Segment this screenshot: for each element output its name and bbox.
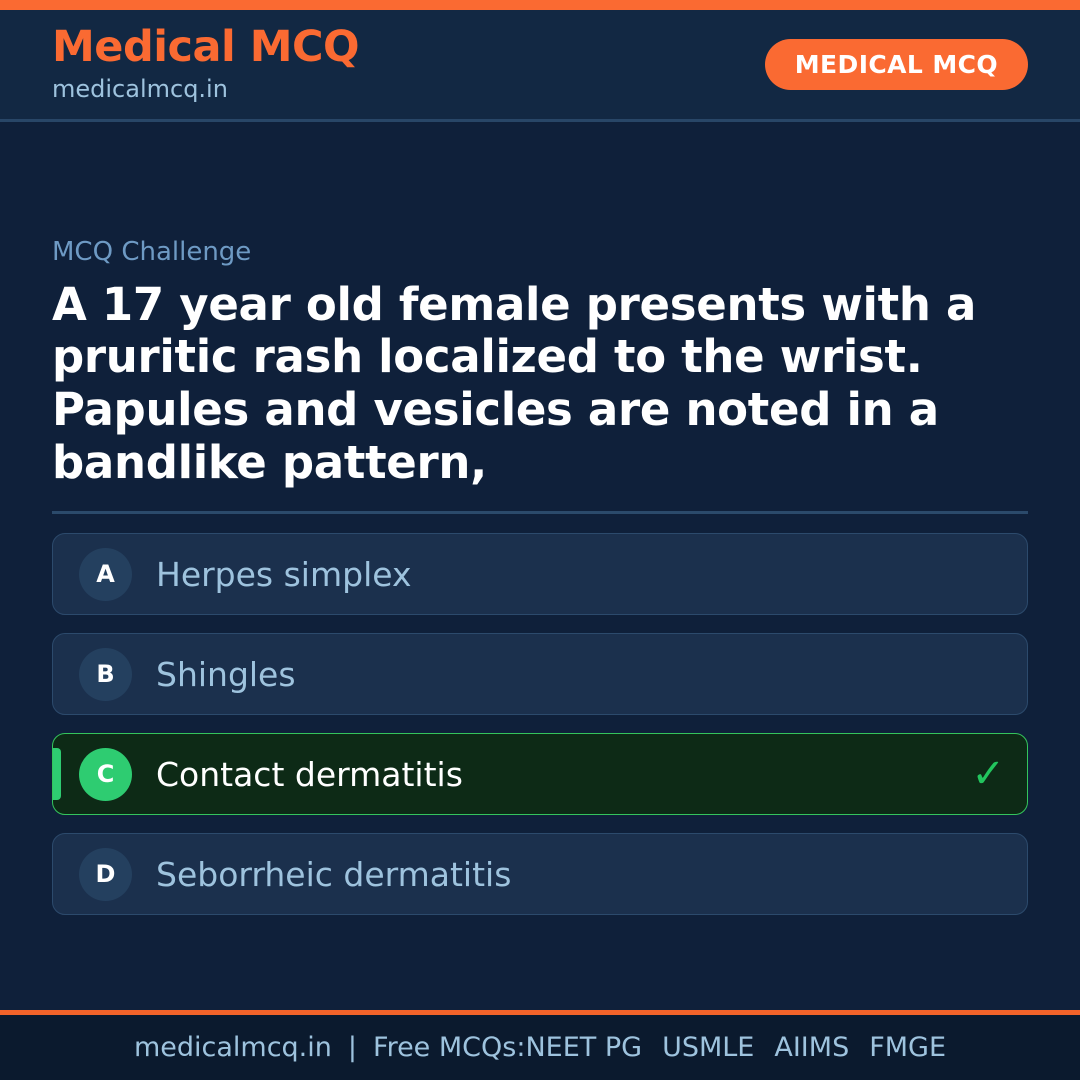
option-a-label: Herpes simplex <box>156 558 412 591</box>
options-list: A Herpes simplex ✓ B Shingles ✓ C Contac… <box>52 533 1028 915</box>
footer: medicalmcq.in | Free MCQs: NEET PG USMLE… <box>0 1015 1080 1080</box>
check-icon: ✓ <box>971 754 1005 794</box>
footer-tag-fmge: FMGE <box>869 1034 946 1061</box>
option-d-label: Seborrheic dermatitis <box>156 858 511 891</box>
brand-block: Medical MCQ medicalmcq.in <box>52 26 359 104</box>
option-b-label: Shingles <box>156 658 296 691</box>
option-b-letter: B <box>79 648 132 701</box>
mcq-card: Medical MCQ medicalmcq.in MEDICAL MCQ MC… <box>0 0 1080 1080</box>
main-content: MCQ Challenge A 17 year old female prese… <box>0 122 1080 1010</box>
option-b[interactable]: B Shingles ✓ <box>52 633 1028 715</box>
footer-tag-neetpg: NEET PG <box>525 1034 642 1061</box>
option-c[interactable]: C Contact dermatitis ✓ <box>52 733 1028 815</box>
top-accent-bar <box>0 0 1080 10</box>
footer-separator: | <box>332 1032 373 1063</box>
option-a[interactable]: A Herpes simplex ✓ <box>52 533 1028 615</box>
question-divider <box>52 511 1028 514</box>
footer-prefix: Free MCQs: <box>373 1034 525 1061</box>
brand-subtitle: medicalmcq.in <box>52 75 359 104</box>
brand-title: Medical MCQ <box>52 26 359 70</box>
header: Medical MCQ medicalmcq.in MEDICAL MCQ <box>0 10 1080 122</box>
footer-tags: NEET PG USMLE AIIMS FMGE <box>525 1034 946 1061</box>
footer-tag-usmle: USMLE <box>662 1034 754 1061</box>
header-badge: MEDICAL MCQ <box>765 39 1028 90</box>
option-d[interactable]: D Seborrheic dermatitis ✓ <box>52 833 1028 915</box>
option-a-letter: A <box>79 548 132 601</box>
footer-site: medicalmcq.in <box>134 1034 332 1061</box>
footer-tag-aiims: AIIMS <box>774 1034 849 1061</box>
question-text: A 17 year old female presents with a pru… <box>52 279 1012 490</box>
option-c-label: Contact dermatitis <box>156 758 463 791</box>
option-d-letter: D <box>79 848 132 901</box>
option-c-letter: C <box>79 748 132 801</box>
question-kicker: MCQ Challenge <box>52 238 1028 267</box>
